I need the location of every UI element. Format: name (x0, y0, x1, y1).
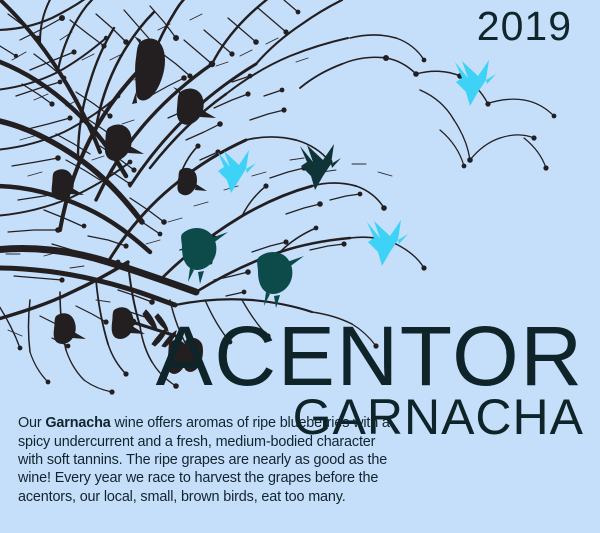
hummingbird-cyan (218, 150, 256, 193)
description-prefix: Our (18, 415, 45, 431)
perched-bird (112, 307, 145, 339)
wine-label: 2019 ACENTOR GARNACHA Our Garnacha wine … (0, 0, 600, 533)
hummingbird-dark (300, 144, 341, 190)
perched-bird (54, 313, 86, 344)
perched-bird (52, 169, 84, 200)
description-text: Our Garnacha wine offers aromas of ripe … (18, 414, 390, 505)
perched-bird-teal (257, 252, 304, 308)
perched-bird-teal (181, 228, 228, 284)
perched-bird (173, 87, 216, 125)
perched-bird (177, 168, 207, 195)
hummingbird-cyan (455, 60, 496, 106)
hummingbird-cyan (367, 220, 408, 266)
perched-bird (105, 125, 144, 161)
description-bold-term: Garnacha (45, 415, 110, 431)
brand-name: ACENTOR (156, 318, 584, 395)
perched-bird (132, 36, 165, 104)
vintage-year: 2019 (477, 6, 572, 47)
